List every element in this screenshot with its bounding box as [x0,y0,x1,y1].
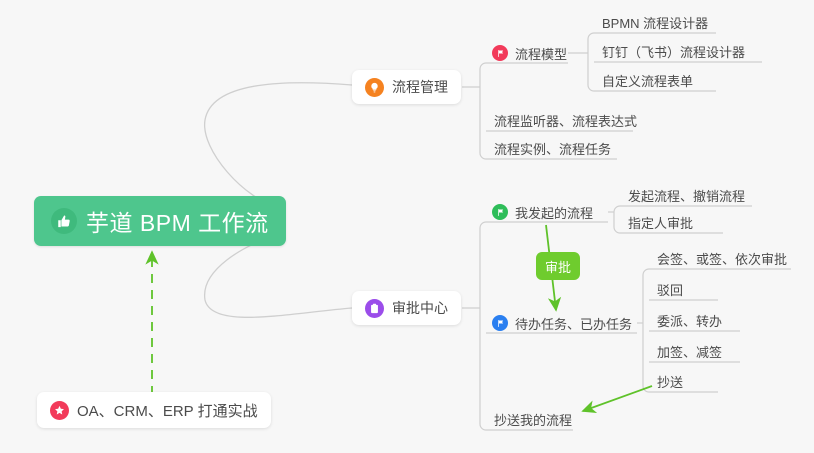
leaf-label: 流程实例、流程任务 [494,142,611,157]
flag-icon [492,45,508,61]
node-todo-done-tasks[interactable]: 待办任务、已办任务 [492,312,632,334]
leaf-delegate-transfer[interactable]: 委派、转办 [651,306,728,332]
connector-ac-trunk [480,222,486,430]
flag-icon [492,315,508,331]
thumbs-up-icon [51,208,77,234]
star-icon [50,401,69,420]
node-label: 流程模型 [515,44,567,63]
leaf-countersign[interactable]: 会签、或签、依次审批 [651,244,793,270]
node-label: 待办任务、已办任务 [515,314,632,333]
branch-node-approval-center[interactable]: 审批中心 [352,291,461,325]
node-process-model[interactable]: 流程模型 [492,42,567,64]
annotation-chip-label: 审批 [545,257,571,276]
arrow-cc-to-ccprocess [583,386,652,411]
connector-root-to-approval-center [205,234,352,317]
leaf-dingtalk-designer[interactable]: 钉钉（飞书）流程设计器 [596,37,751,63]
clipboard-icon [365,299,384,318]
connector-msp-trunk [614,206,620,233]
leaf-add-remove-sign[interactable]: 加签、减签 [651,337,728,363]
note-label: OA、CRM、ERP 打通实战 [77,400,258,421]
branch-label: 流程管理 [392,77,448,97]
branch-label: 审批中心 [392,298,448,318]
lightbulb-icon [365,78,384,97]
leaf-process-listener[interactable]: 流程监听器、流程表达式 [488,106,643,132]
leaf-custom-form[interactable]: 自定义流程表单 [596,66,699,92]
connector-root-to-process-management [205,83,352,208]
node-my-started-process[interactable]: 我发起的流程 [492,201,593,223]
leaf-designated-approver[interactable]: 指定人审批 [622,208,699,234]
node-label: 我发起的流程 [515,203,593,222]
connector-todo-trunk [643,269,649,392]
leaf-label: 自定义流程表单 [602,74,693,89]
branch-node-process-management[interactable]: 流程管理 [352,70,461,104]
leaf-label: 钉钉（飞书）流程设计器 [602,45,745,60]
leaf-label: 发起流程、撤销流程 [628,189,745,204]
connector-pmodel-trunk [588,33,594,91]
leaf-label: 会签、或签、依次审批 [657,252,787,267]
leaf-process-instance[interactable]: 流程实例、流程任务 [488,134,617,160]
leaf-bpmn-designer[interactable]: BPMN 流程设计器 [596,8,714,34]
leaf-label: 加签、减签 [657,345,722,360]
leaf-cc-to-me[interactable]: 抄送我的流程 [488,405,578,431]
flag-icon [492,204,508,220]
mindmap-canvas: 芋道 BPM 工作流 OA、CRM、ERP 打通实战 流程管理 [0,0,814,453]
leaf-start-cancel-process[interactable]: 发起流程、撤销流程 [622,181,751,207]
leaf-label: 流程监听器、流程表达式 [494,114,637,129]
leaf-label: 抄送我的流程 [494,413,572,428]
annotation-chip-approval[interactable]: 审批 [536,252,580,280]
leaf-reject[interactable]: 驳回 [651,275,689,301]
leaf-label: 抄送 [657,375,683,390]
leaf-label: BPMN 流程设计器 [602,16,708,31]
note-node[interactable]: OA、CRM、ERP 打通实战 [37,392,271,428]
root-node[interactable]: 芋道 BPM 工作流 [34,196,286,246]
leaf-label: 驳回 [657,283,683,298]
root-label: 芋道 BPM 工作流 [86,204,269,238]
leaf-cc[interactable]: 抄送 [651,367,689,393]
leaf-label: 指定人审批 [628,216,693,231]
connector-pm-trunk [480,63,486,159]
leaf-label: 委派、转办 [657,314,722,329]
